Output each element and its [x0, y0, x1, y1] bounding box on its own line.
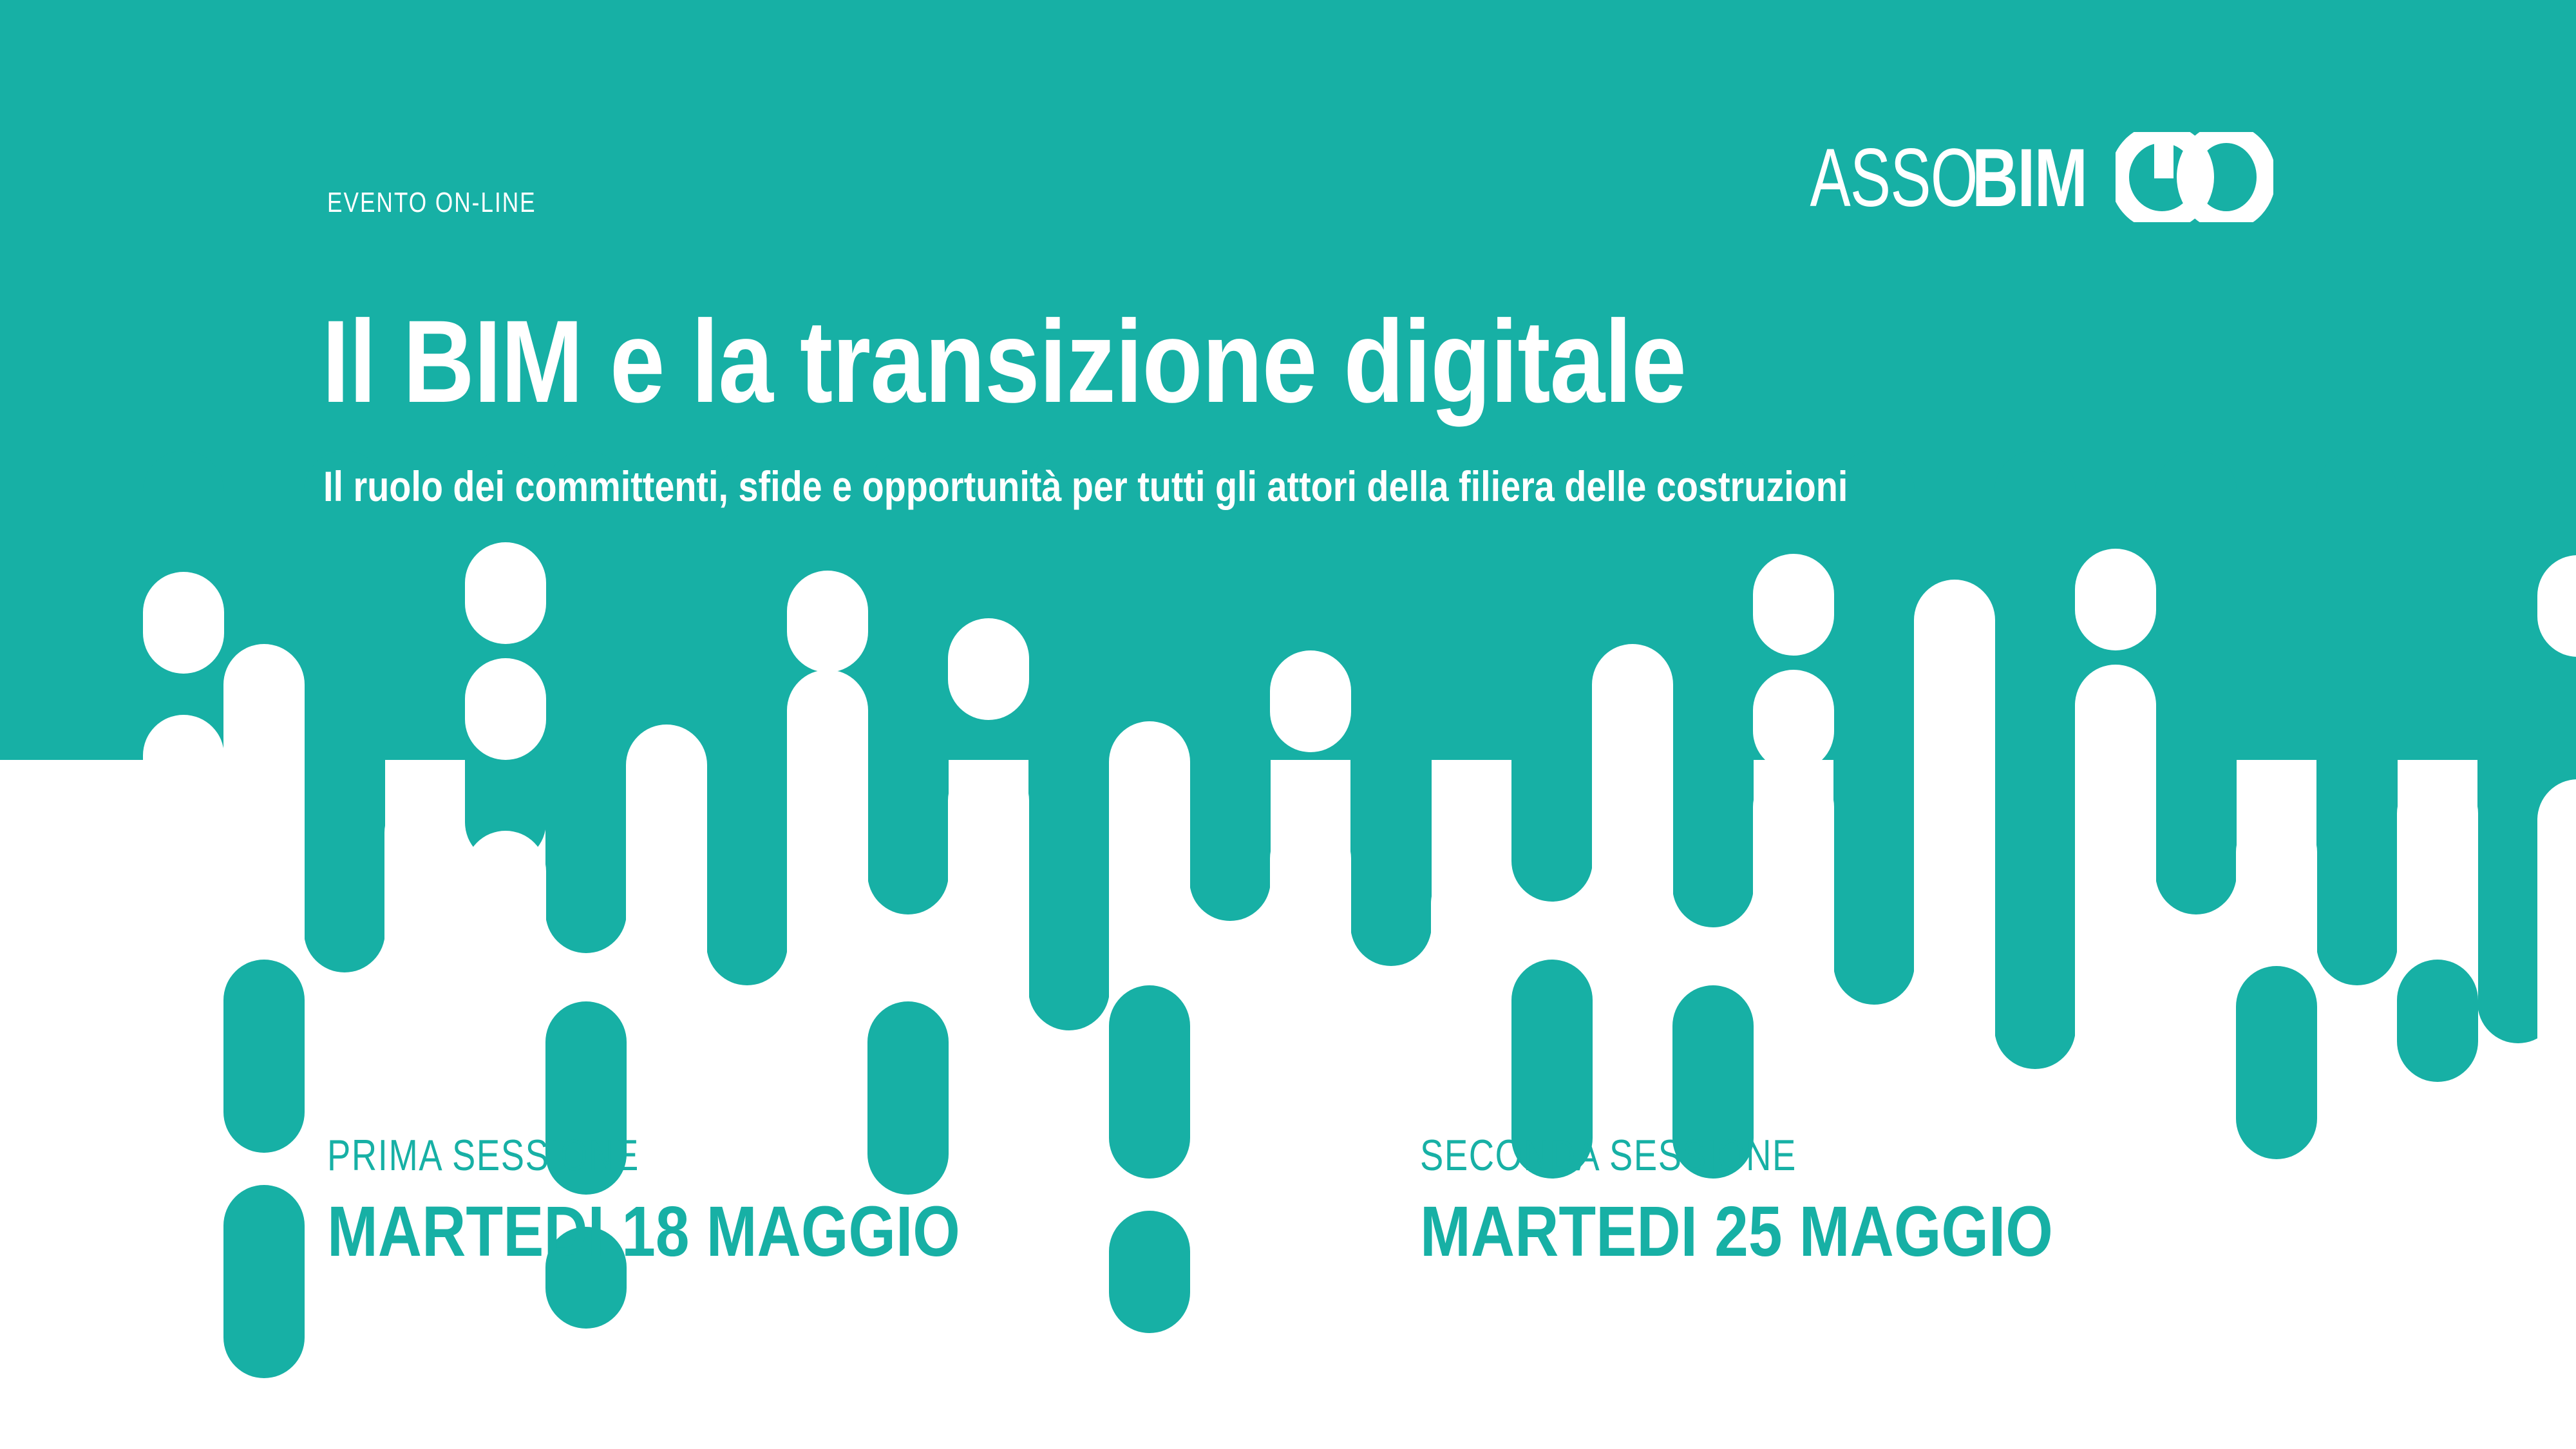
page-subtitle: Il ruolo dei committenti, sfide e opport… [323, 465, 1848, 507]
session-block-first: PRIMA SESSIONE MARTEDI 18 MAGGIO [327, 1133, 1063, 1267]
session-label-second: SECONDA SESSIONE [1420, 1133, 2009, 1177]
session-date-second: MARTEDI 25 MAGGIO [1420, 1197, 2053, 1267]
poster-canvas: EVENTO ON-LINE ASSO BIM Il BIM e la tran… [0, 0, 2576, 1449]
session-date-first: MARTEDI 18 MAGGIO [327, 1197, 960, 1267]
session-label-first: PRIMA SESSIONE [327, 1133, 916, 1177]
session-block-second: SECONDA SESSIONE MARTEDI 25 MAGGIO [1420, 1133, 2156, 1267]
logo-word-bim: BIM [1972, 137, 2087, 220]
assobim-logo[interactable]: ASSO BIM [1751, 137, 2273, 220]
page-title: Il BIM e la transizione digitale [322, 303, 1686, 420]
assobim-infinity-mark [2116, 132, 2273, 225]
event-eyebrow-label: EVENTO ON-LINE [327, 187, 536, 219]
logo-word-asso: ASSO [1810, 137, 1977, 220]
